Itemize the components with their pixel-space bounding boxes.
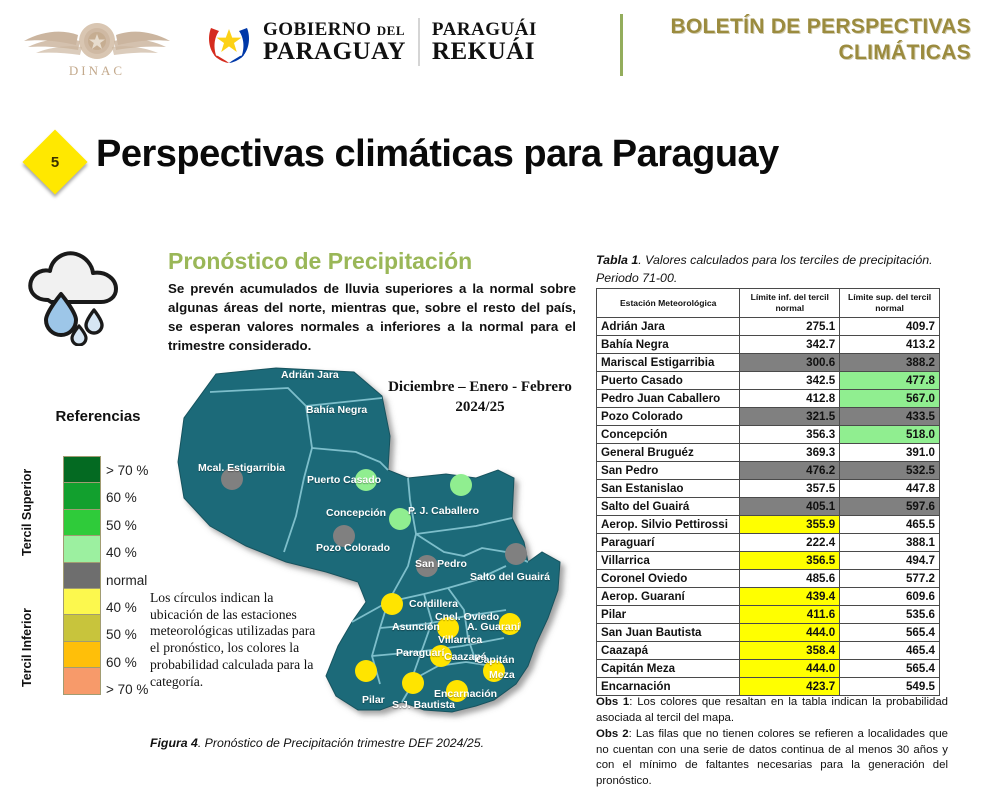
table-row: Caazapá358.4465.4 xyxy=(597,642,940,660)
legend-swatch-1 xyxy=(63,482,101,509)
cell-lower-limit: 439.4 xyxy=(740,588,840,606)
cell-station: Pozo Colorado xyxy=(597,408,740,426)
map-label: Pilar xyxy=(362,694,385,706)
season-line-2: 2024/25 xyxy=(455,399,504,415)
cell-lower-limit: 222.4 xyxy=(740,534,840,552)
map-label: Concepción xyxy=(326,507,386,519)
cell-station: Concepción xyxy=(597,426,740,444)
cell-lower-limit: 356.5 xyxy=(740,552,840,570)
obs-2-label: Obs 2 xyxy=(596,728,629,740)
cell-lower-limit: 355.9 xyxy=(740,516,840,534)
table-row: Encarnación423.7549.5 xyxy=(597,678,940,696)
obs-2-text: : Las filas que no tienen colores se ref… xyxy=(596,728,948,787)
table-row: Pozo Colorado321.5433.5 xyxy=(597,408,940,426)
table-body: Adrián Jara275.1409.7Bahía Negra342.7413… xyxy=(597,318,940,696)
cell-station: Capitán Meza xyxy=(597,660,740,678)
map-label: Paraguarí xyxy=(396,647,444,659)
map-label: Asunción xyxy=(392,621,440,633)
figure-caption-text: . Pronóstico de Precipitación trimestre … xyxy=(198,736,484,750)
cell-lower-limit: 476.2 xyxy=(740,462,840,480)
cell-upper-limit: 447.8 xyxy=(840,480,940,498)
dinac-wings-icon xyxy=(12,15,182,67)
figure-caption-label: Figura 4 xyxy=(150,736,198,750)
table-header-row: Estación Meteorológica Límite inf. del t… xyxy=(597,289,940,318)
cell-station: Adrián Jara xyxy=(597,318,740,336)
cell-upper-limit: 494.7 xyxy=(840,552,940,570)
cell-upper-limit: 535.6 xyxy=(840,606,940,624)
cell-upper-limit: 565.4 xyxy=(840,624,940,642)
station-dot xyxy=(355,660,377,682)
legend-swatch-4 xyxy=(63,562,101,589)
map-label: A. Guaraní xyxy=(467,621,520,633)
figure-caption: Figura 4. Pronóstico de Precipitación tr… xyxy=(150,736,580,750)
cell-lower-limit: 275.1 xyxy=(740,318,840,336)
cell-lower-limit: 358.4 xyxy=(740,642,840,660)
table-row: Paraguarí222.4388.1 xyxy=(597,534,940,552)
station-dot xyxy=(402,672,424,694)
map-label: Mcal. Estigarribia xyxy=(198,462,285,474)
cell-station: San Pedro xyxy=(597,462,740,480)
cell-station: Villarrica xyxy=(597,552,740,570)
cell-upper-limit: 477.8 xyxy=(840,372,940,390)
table-row: Villarrica356.5494.7 xyxy=(597,552,940,570)
table-row: Mariscal Estigarribia300.6388.2 xyxy=(597,354,940,372)
cell-station: San Juan Bautista xyxy=(597,624,740,642)
table-caption-label: Tabla 1 xyxy=(596,253,638,267)
cell-upper-limit: 391.0 xyxy=(840,444,940,462)
obs-1-text: : Los colores que resaltan en la tabla i… xyxy=(596,696,948,724)
logo-divider xyxy=(418,18,420,66)
table-row: General Bruguéz369.3391.0 xyxy=(597,444,940,462)
legend-title: Referencias xyxy=(38,408,158,425)
map-label: Villarrica xyxy=(438,634,482,646)
cell-station: Paraguarí xyxy=(597,534,740,552)
paraguai-word: PARAGUÁI xyxy=(432,20,537,39)
cell-lower-limit: 423.7 xyxy=(740,678,840,696)
cell-upper-limit: 465.5 xyxy=(840,516,940,534)
cell-upper-limit: 597.6 xyxy=(840,498,940,516)
cell-station: Encarnación xyxy=(597,678,740,696)
forecast-season-label: Diciembre – Enero - Febrero 2024/25 xyxy=(382,378,578,417)
map-label: Puerto Casado xyxy=(307,474,381,486)
cell-upper-limit: 518.0 xyxy=(840,426,940,444)
table-row: Salto del Guairá405.1597.6 xyxy=(597,498,940,516)
cell-lower-limit: 405.1 xyxy=(740,498,840,516)
rekuai-word: REKUÁI xyxy=(432,39,537,64)
cell-station: Aerop. Guaraní xyxy=(597,588,740,606)
map-label: Pozo Colorado xyxy=(316,542,390,554)
table-row: Aerop. Guaraní439.4609.6 xyxy=(597,588,940,606)
table-row: San Estanislao357.5447.8 xyxy=(597,480,940,498)
station-dot xyxy=(450,474,472,496)
cell-station: Coronel Oviedo xyxy=(597,570,740,588)
gobierno-paraguay-logo: GOBIERNO DEL PARAGUAY PARAGUÁI REKUÁI xyxy=(205,10,595,74)
cell-upper-limit: 413.2 xyxy=(840,336,940,354)
table-row: Pedro Juan Caballero412.8567.0 xyxy=(597,390,940,408)
table-row: Adrián Jara275.1409.7 xyxy=(597,318,940,336)
cell-station: General Bruguéz xyxy=(597,444,740,462)
table-row: San Pedro476.2532.5 xyxy=(597,462,940,480)
map-label: San Pedro xyxy=(415,558,467,570)
season-line-1: Diciembre – Enero - Febrero xyxy=(388,379,572,395)
cell-lower-limit: 342.5 xyxy=(740,372,840,390)
cell-upper-limit: 577.2 xyxy=(840,570,940,588)
cell-station: Puerto Casado xyxy=(597,372,740,390)
table-caption: Tabla 1. Valores calculados para los ter… xyxy=(596,252,956,288)
cell-lower-limit: 412.8 xyxy=(740,390,840,408)
cell-station: San Estanislao xyxy=(597,480,740,498)
table-caption-text: . Valores calculados para los terciles d… xyxy=(596,253,933,285)
cell-upper-limit: 388.1 xyxy=(840,534,940,552)
cell-lower-limit: 357.5 xyxy=(740,480,840,498)
terciles-table: Estación Meteorológica Límite inf. del t… xyxy=(596,288,940,696)
map-label: Bahía Negra xyxy=(306,404,367,416)
map-label: Capitán xyxy=(476,654,515,666)
map-legend: Referencias Tercil Superior Tercil Infer… xyxy=(18,408,166,708)
del-word: DEL xyxy=(377,23,405,38)
legend-label-0: > 70 % xyxy=(106,457,168,484)
cell-lower-limit: 444.0 xyxy=(740,660,840,678)
cell-upper-limit: 433.5 xyxy=(840,408,940,426)
legend-color-bar xyxy=(63,457,101,704)
section-number: 5 xyxy=(32,139,78,185)
station-dot xyxy=(381,593,403,615)
cell-station: Pedro Juan Caballero xyxy=(597,390,740,408)
cell-upper-limit: 409.7 xyxy=(840,318,940,336)
cell-upper-limit: 549.5 xyxy=(840,678,940,696)
legend-swatch-2 xyxy=(63,509,101,536)
map-label: S.J. Bautista xyxy=(392,699,455,711)
cell-upper-limit: 532.5 xyxy=(840,462,940,480)
dinac-logo: DINAC xyxy=(8,6,186,88)
cell-lower-limit: 342.7 xyxy=(740,336,840,354)
col-header-upper-limit: Límite sup. del tercil normal xyxy=(840,289,940,318)
legend-label-1: 60 % xyxy=(106,484,168,511)
cell-lower-limit: 321.5 xyxy=(740,408,840,426)
cell-lower-limit: 411.6 xyxy=(740,606,840,624)
cell-upper-limit: 565.4 xyxy=(840,660,940,678)
section-title-row: 5 Perspectivas climáticas para Paraguay xyxy=(26,133,956,195)
map-label: Cordillera xyxy=(409,598,458,610)
cell-lower-limit: 300.6 xyxy=(740,354,840,372)
gobierno-word: GOBIERNO xyxy=(263,19,372,40)
table-observations: Obs 1: Los colores que resaltan en la ta… xyxy=(596,695,948,790)
tercil-superior-label: Tercil Superior xyxy=(20,458,38,566)
page-header: DINAC GOBIERNO DEL PARAGUAY xyxy=(0,0,983,95)
table-row: Pilar411.6535.6 xyxy=(597,606,940,624)
obs-1-label: Obs 1 xyxy=(596,696,629,708)
table-row: Capitán Meza444.0565.4 xyxy=(597,660,940,678)
cell-station: Caazapá xyxy=(597,642,740,660)
map-label: P. J. Caballero xyxy=(408,505,479,517)
table-row: Coronel Oviedo485.6577.2 xyxy=(597,570,940,588)
paraguay-word: PARAGUAY xyxy=(263,39,406,64)
col-header-station: Estación Meteorológica xyxy=(597,289,740,318)
cell-upper-limit: 609.6 xyxy=(840,588,940,606)
legend-swatch-7 xyxy=(63,641,101,668)
rain-cloud-icon xyxy=(18,238,136,346)
page-title: Perspectivas climáticas para Paraguay xyxy=(96,133,779,176)
legend-swatch-8 xyxy=(63,667,101,694)
legend-swatch-3 xyxy=(63,535,101,562)
cell-lower-limit: 356.3 xyxy=(740,426,840,444)
legend-swatch-5 xyxy=(63,588,101,615)
cell-upper-limit: 388.2 xyxy=(840,354,940,372)
cell-lower-limit: 444.0 xyxy=(740,624,840,642)
map-label: Adrián Jara xyxy=(281,369,339,381)
cell-station: Aerop. Silvio Pettirossi xyxy=(597,516,740,534)
table-row: Concepción356.3518.0 xyxy=(597,426,940,444)
legend-swatch-6 xyxy=(63,614,101,641)
cell-station: Bahía Negra xyxy=(597,336,740,354)
cell-lower-limit: 485.6 xyxy=(740,570,840,588)
cell-upper-limit: 567.0 xyxy=(840,390,940,408)
cell-station: Salto del Guairá xyxy=(597,498,740,516)
precipitation-heading: Pronóstico de Precipitación xyxy=(168,248,580,275)
header-separator xyxy=(620,14,623,76)
map-label: Salto del Guairá xyxy=(470,571,550,583)
legend-swatch-0 xyxy=(63,456,101,483)
cell-station: Pilar xyxy=(597,606,740,624)
map-label: Meza xyxy=(489,669,515,681)
cell-station: Mariscal Estigarribia xyxy=(597,354,740,372)
table-row: Bahía Negra342.7413.2 xyxy=(597,336,940,354)
obs-1: Obs 1: Los colores que resaltan en la ta… xyxy=(596,695,948,726)
cell-lower-limit: 369.3 xyxy=(740,444,840,462)
cell-upper-limit: 465.4 xyxy=(840,642,940,660)
paraguay-emblem-icon xyxy=(205,18,253,66)
tercil-inferior-label: Tercil Inferior xyxy=(20,594,38,702)
table-row: Aerop. Silvio Pettirossi355.9465.5 xyxy=(597,516,940,534)
table-row: Puerto Casado342.5477.8 xyxy=(597,372,940,390)
bulletin-title: BOLETÍN DE PERSPECTIVAS CLIMÁTICAS xyxy=(641,14,971,65)
table-head: Estación Meteorológica Límite inf. del t… xyxy=(597,289,940,318)
col-header-lower-limit: Límite inf. del tercil normal xyxy=(740,289,840,318)
precipitation-body: Se prevén acumulados de lluvia superiore… xyxy=(168,280,576,356)
obs-2: Obs 2: Las filas que no tienen colores s… xyxy=(596,727,948,789)
legend-label-3: 40 % xyxy=(106,539,168,566)
table-row: San Juan Bautista444.0565.4 xyxy=(597,624,940,642)
paraguay-forecast-map: Diciembre – Enero - Febrero 2024/25 Adri… xyxy=(176,366,576,726)
legend-label-2: 50 % xyxy=(106,512,168,539)
station-dot xyxy=(505,543,527,565)
